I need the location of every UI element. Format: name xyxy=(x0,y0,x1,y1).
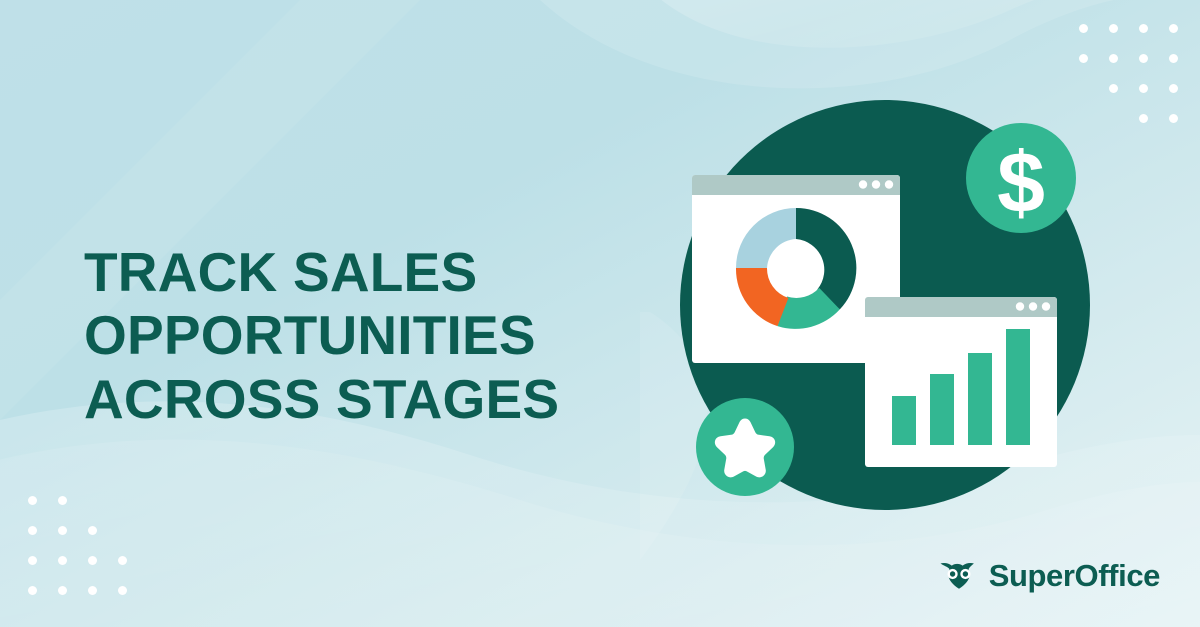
decorative-dot xyxy=(1169,54,1178,63)
decorative-dot xyxy=(58,526,67,535)
sales-dashboard-illustration: $ xyxy=(660,75,1130,535)
decorative-dot xyxy=(88,586,97,595)
dollar-icon: $ xyxy=(997,135,1045,231)
decorative-dot xyxy=(58,586,67,595)
brand-logo: SuperOffice xyxy=(939,560,1160,591)
decorative-dot xyxy=(118,586,127,595)
bar-4 xyxy=(1006,329,1030,445)
decorative-dot xyxy=(1169,84,1178,93)
decorative-dot xyxy=(118,556,127,565)
dot-grid-bottom-left xyxy=(28,496,127,595)
decorative-dot xyxy=(1169,24,1178,33)
owl-icon xyxy=(939,561,979,591)
decorative-dot xyxy=(1139,84,1148,93)
window-dot xyxy=(859,180,867,188)
window-dot xyxy=(1029,302,1037,310)
bar-2 xyxy=(930,374,954,445)
marketing-banner: Track Sales Opportunities Across Stages xyxy=(0,0,1200,627)
brand-name: SuperOffice xyxy=(989,560,1160,591)
decorative-dot xyxy=(1109,24,1118,33)
dollar-badge: $ xyxy=(966,123,1076,233)
decorative-dot xyxy=(1079,54,1088,63)
window-dot xyxy=(872,180,880,188)
bar-1 xyxy=(892,396,916,445)
decorative-dot xyxy=(1139,24,1148,33)
bar-chart-window xyxy=(865,297,1057,467)
decorative-dot xyxy=(28,526,37,535)
window-dot xyxy=(885,180,893,188)
decorative-dot xyxy=(1169,114,1178,123)
decorative-dot xyxy=(1139,54,1148,63)
decorative-dot xyxy=(88,556,97,565)
decorative-dot xyxy=(88,526,97,535)
decorative-dot xyxy=(28,586,37,595)
decorative-dot xyxy=(1109,54,1118,63)
window-dot xyxy=(1016,302,1024,310)
decorative-dot xyxy=(58,556,67,565)
star-badge xyxy=(696,398,794,496)
decorative-dot xyxy=(1139,114,1148,123)
decorative-dot xyxy=(28,556,37,565)
decorative-dot xyxy=(1079,24,1088,33)
bar-3 xyxy=(968,353,992,445)
decorative-dot xyxy=(28,496,37,505)
decorative-dot xyxy=(58,496,67,505)
page-title: Track Sales Opportunities Across Stages xyxy=(84,241,644,432)
window-dot xyxy=(1042,302,1050,310)
